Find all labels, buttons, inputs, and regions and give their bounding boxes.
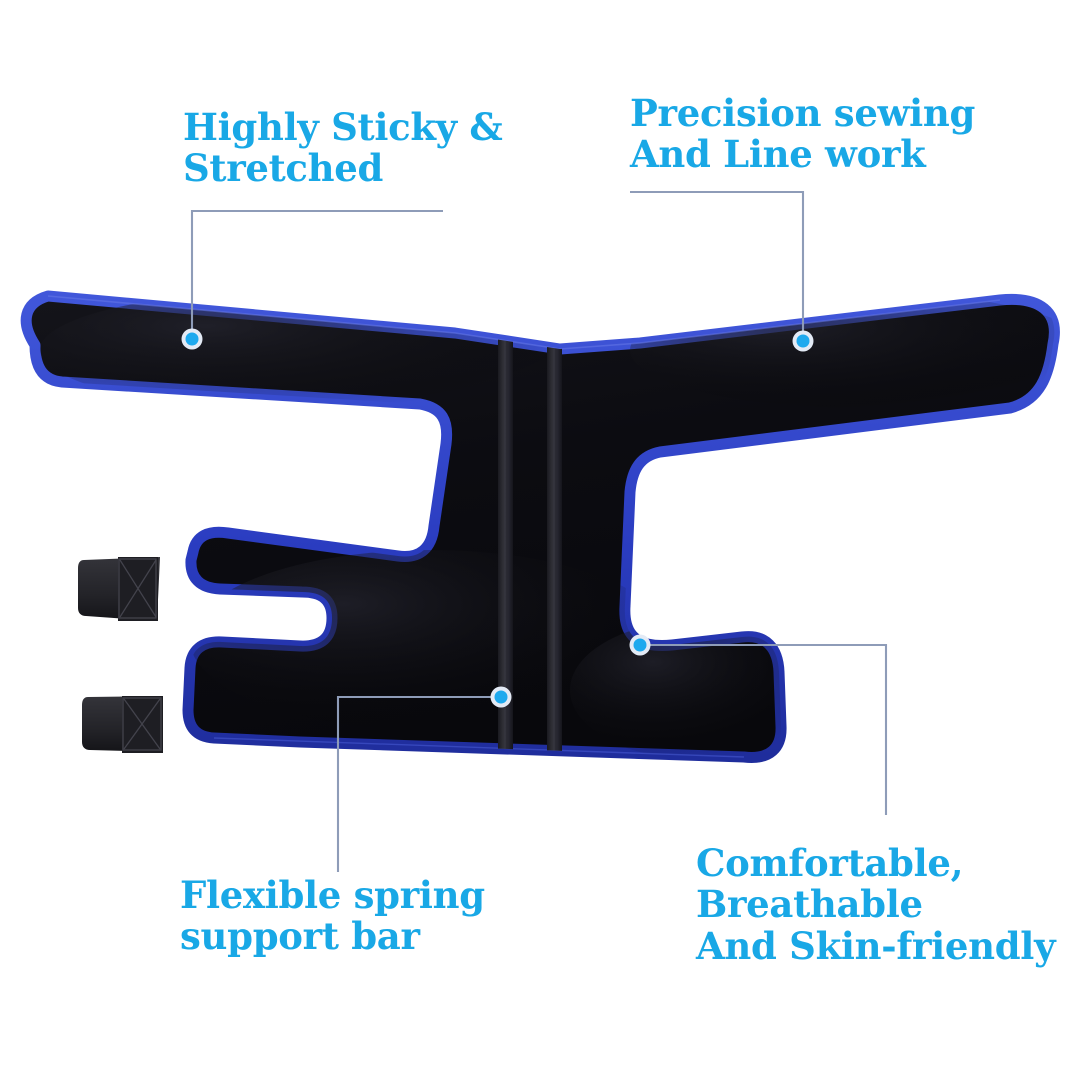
callout-label-comfortable: Comfortable, Breathable And Skin-friendl…: [696, 843, 1055, 967]
support-bar-left: [498, 330, 513, 755]
support-bar-right: [547, 335, 562, 755]
callout-label-precision-sewing: Precision sewing And Line work: [630, 93, 975, 176]
strap-tab-lower: [82, 696, 163, 753]
strap-tab-upper: [78, 557, 160, 621]
callout-label-highly-sticky: Highly Sticky & Stretched: [183, 107, 503, 190]
callout-label-flexible-spring: Flexible spring support bar: [180, 875, 485, 958]
infographic-canvas: Highly Sticky & Stretched Precision sewi…: [0, 0, 1080, 1080]
